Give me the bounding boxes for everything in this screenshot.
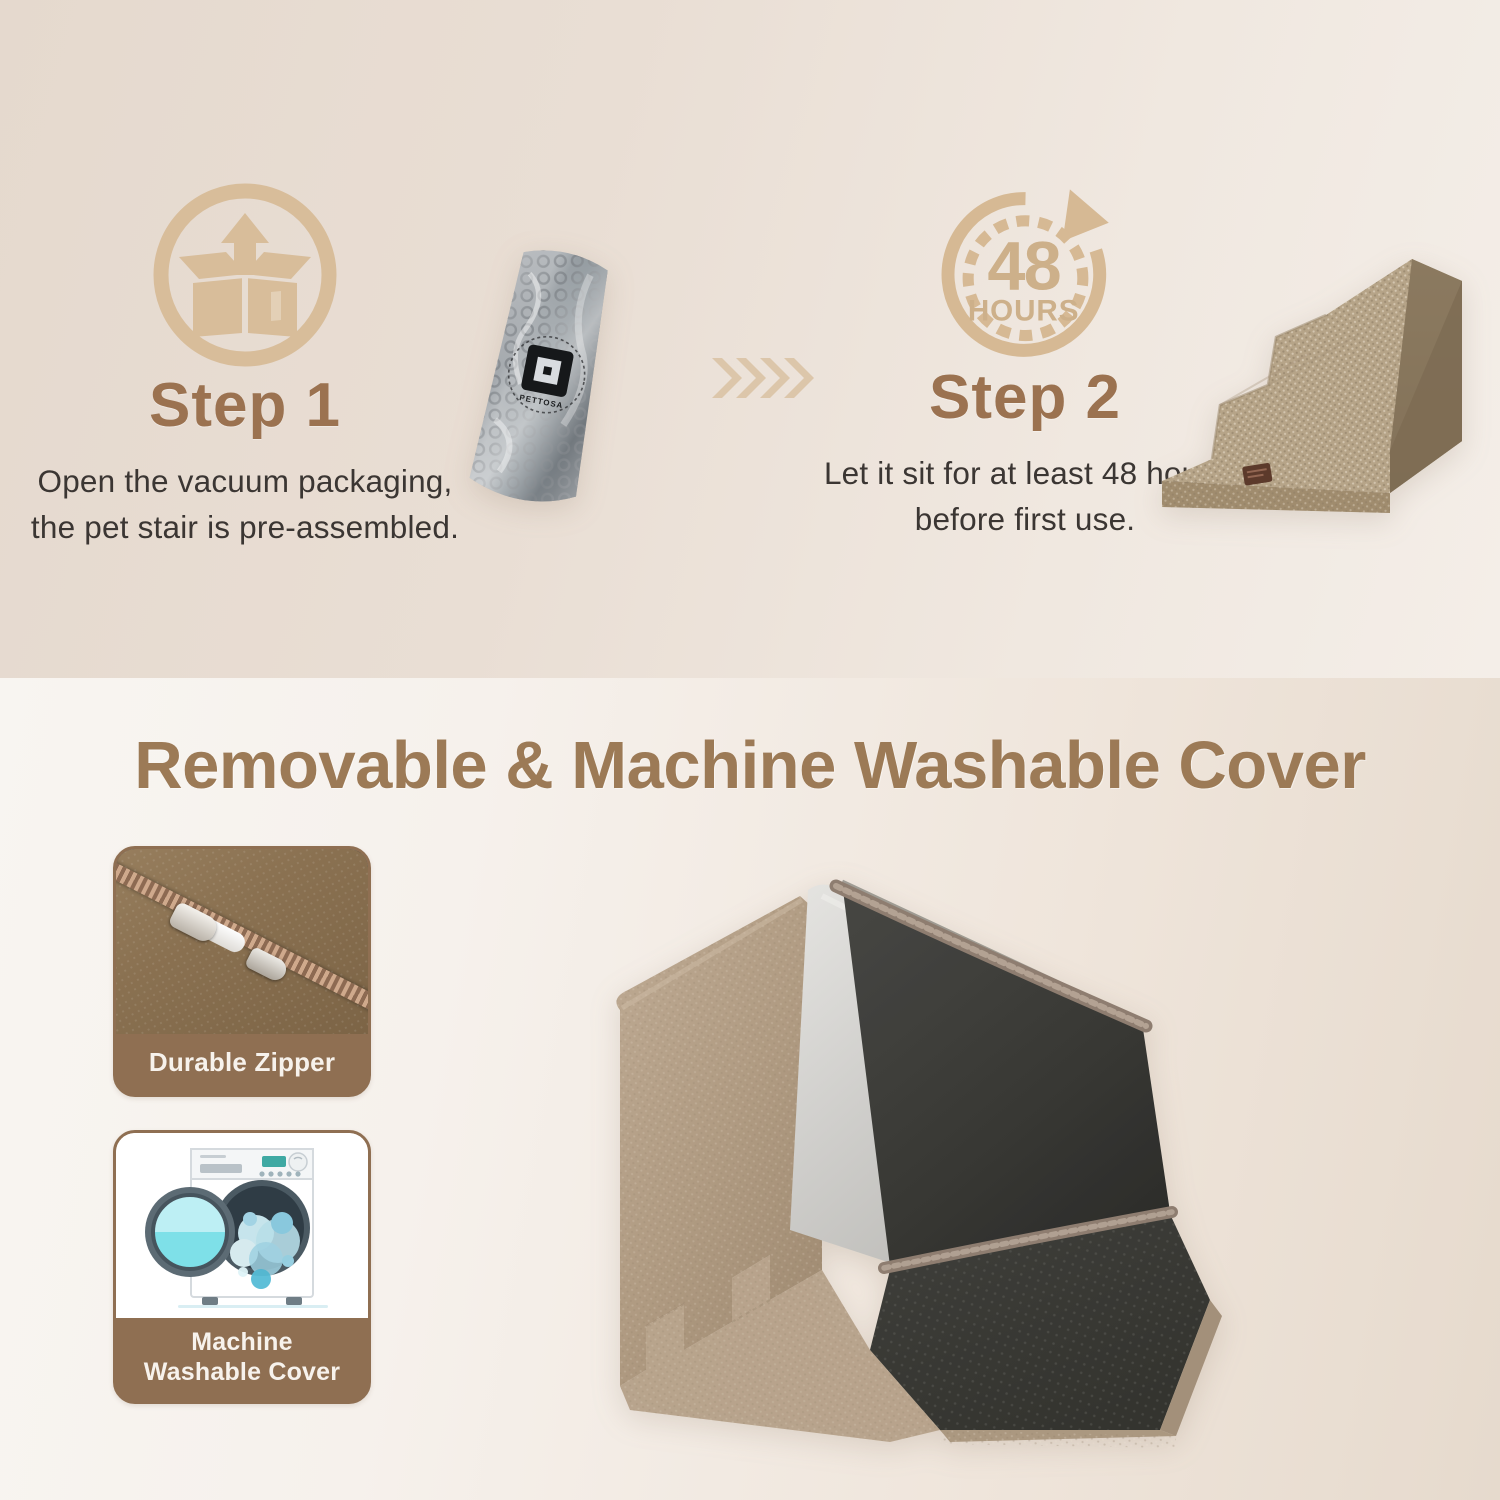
- vacuum-packed-roll-image: PETTOSA: [437, 238, 647, 528]
- page-headline: Removable & Machine Washable Cover: [0, 727, 1500, 804]
- step-1-block: Step 1 Open the vacuum packaging, the pe…: [30, 175, 460, 550]
- step-1-title: Step 1: [30, 375, 460, 437]
- feature-label-line-1: Machine: [120, 1328, 364, 1358]
- open-box-circle-icon: [30, 175, 460, 375]
- 48-hours-number: 48: [987, 227, 1059, 304]
- product-infographic: Step 1 Open the vacuum packaging, the pe…: [0, 0, 1500, 1500]
- 48-hours-unit: HOURS: [967, 295, 1079, 328]
- feature-card-machine-washable[interactable]: Machine Washable Cover: [113, 1130, 371, 1404]
- feature-label-durable-zipper: Durable Zipper: [116, 1034, 368, 1094]
- steps-section: Step 1 Open the vacuum packaging, the pe…: [0, 0, 1500, 678]
- feature-label-line-2: Washable Cover: [120, 1358, 364, 1388]
- pet-stair-cover-peeled-back-image: [470, 830, 1230, 1450]
- step-1-description: Open the vacuum packaging, the pet stair…: [30, 459, 460, 550]
- washing-machine-icon: [116, 1133, 368, 1318]
- assembled-pet-stair-image: [1150, 245, 1495, 515]
- feature-label-machine-washable: Machine Washable Cover: [116, 1318, 368, 1401]
- zipper-closeup-image: [116, 849, 368, 1034]
- feature-card-durable-zipper[interactable]: Durable Zipper: [113, 846, 371, 1097]
